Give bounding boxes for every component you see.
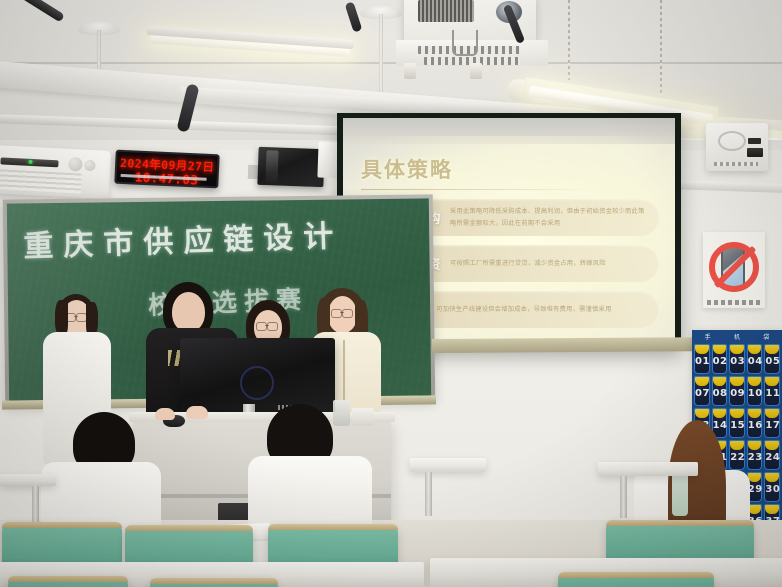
pocket-number: 03: [730, 356, 744, 367]
projector-vent-grille: [418, 0, 474, 22]
pocket-lip: [765, 473, 779, 482]
pocket-number: 15: [730, 420, 744, 431]
pocket-header-label: 机: [722, 332, 751, 343]
pocket-lip: [730, 377, 744, 386]
board-rail-right: [432, 337, 732, 353]
chair-top-trim: [8, 576, 128, 582]
phone-pocket[interactable]: 17: [764, 408, 780, 438]
pocket-board-header: 手 机 袋: [693, 332, 781, 343]
pocket-number: 07: [695, 388, 709, 399]
phone-pocket[interactable]: 16: [747, 408, 763, 438]
pocket-lip: [765, 441, 779, 450]
slide-row-1-body: 采用此策略可降低采购成本、提高利润，但由于初始资金较少而此策略所需金额较大，因此…: [450, 206, 649, 229]
phone-pocket[interactable]: 09: [729, 376, 745, 406]
unit-logo-icon: [718, 131, 746, 151]
desk-middle: [410, 458, 486, 472]
pocket-lip: [713, 409, 727, 418]
unit-indicator: [748, 138, 761, 144]
plastic-water-bottle[interactable]: [672, 470, 688, 516]
ac-air-vents: [0, 169, 82, 194]
pocket-number: 01: [695, 356, 709, 367]
pocket-number: 04: [748, 356, 762, 367]
pocket-number: 02: [713, 356, 727, 367]
phone-pocket[interactable]: 23: [747, 440, 763, 470]
presenter-hand: [155, 408, 175, 420]
desk-leg: [32, 486, 39, 522]
pocket-lip: [765, 345, 779, 354]
light-chain: [568, 0, 570, 80]
ac-knob: [68, 157, 83, 172]
pocket-number: 17: [765, 420, 779, 431]
slide-row-3-body: 可加快生产线建设但会增加成本，导致堆有费用，需谨慎采用: [436, 304, 611, 315]
pocket-lip: [713, 377, 727, 386]
pocket-number: 09: [730, 388, 744, 399]
ac-knob: [84, 160, 96, 172]
projector-bracket: [470, 63, 482, 79]
desk-left-rear: [0, 474, 56, 486]
chair-top-trim: [150, 578, 278, 584]
pocket-lip: [695, 345, 709, 354]
phone-pocket[interactable]: 02: [712, 344, 728, 374]
chair-row2-right[interactable]: [558, 572, 714, 587]
pocket-number: 16: [748, 420, 762, 431]
ceiling-seam: [0, 62, 782, 64]
phone-pocket[interactable]: 03: [729, 344, 745, 374]
pocket-lip: [765, 377, 779, 386]
presenter-hand: [186, 406, 208, 419]
phone-pocket[interactable]: 05: [764, 344, 780, 374]
pocket-lip: [730, 409, 744, 418]
sign-caption-text: [707, 300, 761, 305]
desk-leg: [620, 476, 627, 518]
pocket-number: 23: [748, 452, 762, 463]
presenter-2-head: [172, 292, 205, 332]
pocket-lip: [748, 473, 762, 482]
pocket-number: 30: [765, 484, 779, 495]
ceiling-drop-rod: [379, 14, 383, 96]
pocket-lip: [695, 409, 709, 418]
pocket-lip: [730, 441, 744, 450]
projector-hanger-bracket: [452, 30, 478, 56]
pocket-row: 0708091011: [693, 375, 781, 407]
pocket-number: 10: [748, 388, 762, 399]
no-mobile-phone-sign: [703, 232, 765, 308]
phone-pocket[interactable]: 01: [694, 344, 710, 374]
chair-top-trim: [268, 524, 398, 530]
pocket-lip: [748, 377, 762, 386]
pocket-number: 24: [765, 452, 779, 463]
presenter-1-hair-side: [86, 302, 98, 336]
pocket-lip: [748, 441, 762, 450]
pocket-lip: [730, 345, 744, 354]
pocket-number: 22: [730, 452, 744, 463]
pocket-number: 05: [765, 356, 779, 367]
phone-pocket[interactable]: 22: [729, 440, 745, 470]
speaker-gloss-highlight: [265, 150, 278, 182]
pocket-number: 14: [713, 420, 727, 431]
pocket-lip: [748, 345, 762, 354]
presenter-4-glasses: [331, 309, 353, 316]
pocket-number: 11: [765, 388, 779, 399]
chair-top-trim: [558, 572, 714, 578]
pocket-lip: [713, 345, 727, 354]
pocket-header-label: 手: [693, 332, 722, 343]
light-chain: [660, 0, 662, 96]
phone-pocket[interactable]: 30: [764, 472, 780, 502]
led-clock-display: 2024年09月27日 10:47:03: [114, 150, 219, 189]
classroom-scene: 2024年09月27日 10:47:03 具体策略 预付款采购 采用此策略可降低…: [0, 0, 782, 587]
desk-cup: [333, 400, 350, 426]
chair-row2-left[interactable]: [8, 576, 128, 587]
phone-pocket[interactable]: 10: [747, 376, 763, 406]
wall-split-air-conditioner: [0, 145, 111, 199]
pocket-lip: [748, 409, 762, 418]
desk-right: [598, 462, 698, 476]
chair-row2-center[interactable]: [150, 578, 278, 587]
wall-mounted-white-unit: [706, 123, 768, 171]
pocket-row: 0102030405: [693, 343, 781, 375]
presenter-3-glasses: [256, 322, 278, 329]
slide-title: 具体策略: [361, 154, 659, 184]
desk-leg: [425, 472, 432, 516]
unit-label: [714, 162, 758, 166]
pocket-lip: [695, 377, 709, 386]
desk-box: [352, 408, 374, 426]
pocket-number: 08: [713, 388, 727, 399]
pocket-lip: [765, 505, 779, 514]
projector-bracket: [404, 63, 416, 79]
slide-title-underline: [361, 189, 582, 190]
phone-pocket[interactable]: 04: [747, 344, 763, 374]
wall-mounted-black-speaker: [257, 147, 324, 187]
chair-top-trim: [2, 522, 122, 528]
phone-pocket[interactable]: 24: [764, 440, 780, 470]
pocket-header-label: 袋: [752, 332, 781, 343]
monitor-screen-reflection: [240, 366, 274, 400]
presenter-4-shirt-placket: [343, 340, 345, 400]
phone-pocket[interactable]: 07: [694, 376, 710, 406]
phone-pocket[interactable]: 08: [712, 376, 728, 406]
slide-row-2-body: 可按照工厂所需重进行贷贷，减少资金占用，转嫁风险: [450, 258, 606, 269]
phone-pocket[interactable]: 11: [764, 376, 780, 406]
unit-display: [747, 148, 763, 157]
presenter-1-hair-side: [55, 300, 68, 336]
pocket-lip: [765, 409, 779, 418]
chair-top-trim: [125, 525, 253, 531]
chair-top-trim: [606, 520, 754, 526]
presenter-1-glasses: [65, 313, 87, 320]
phone-pocket[interactable]: 15: [729, 408, 745, 438]
